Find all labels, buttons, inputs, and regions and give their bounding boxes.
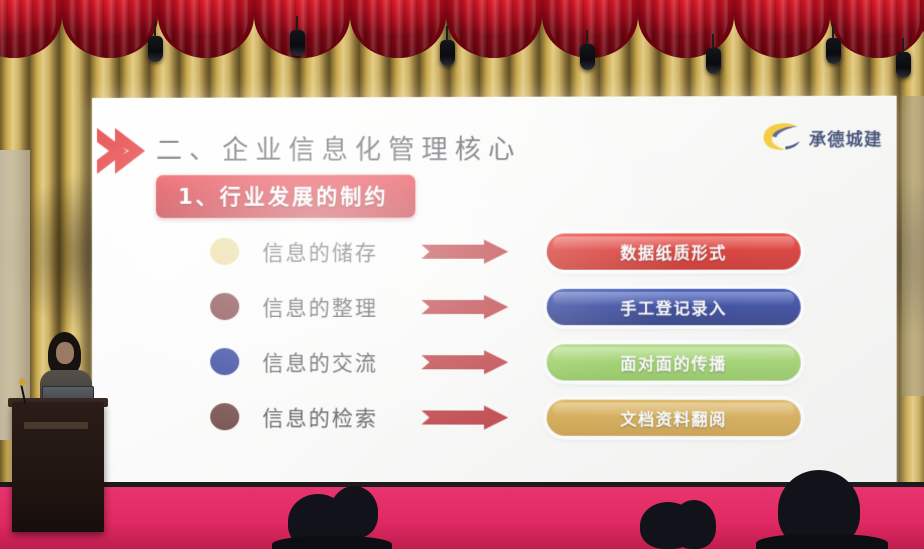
right-arrow-icon xyxy=(421,349,508,375)
podium-nameplate xyxy=(24,422,88,429)
valance-swag xyxy=(158,0,254,58)
brand-name: 承德城建 xyxy=(809,125,882,150)
row-label: 信息的整理 xyxy=(262,291,378,321)
row-label: 信息的储存 xyxy=(262,236,378,266)
outcome-pill: 手工登记录入 xyxy=(547,288,801,324)
spotlight-fixture xyxy=(706,48,721,74)
spotlight-fixture xyxy=(580,44,595,70)
valance-swag xyxy=(734,0,830,58)
bullet-dot xyxy=(210,293,239,320)
red-chevron-icon xyxy=(97,126,165,176)
right-arrow-icon xyxy=(421,238,508,264)
outcome-pill: 文档资料翻阅 xyxy=(547,399,801,436)
red-valance xyxy=(0,0,924,62)
presenter-face xyxy=(56,342,74,364)
audience-head xyxy=(330,486,378,538)
valance-swag xyxy=(830,0,924,58)
spotlight-fixture xyxy=(826,38,841,64)
valance-swag xyxy=(62,0,158,58)
audience-shoulders xyxy=(756,534,888,549)
slide-title: 二、企业信息化管理核心 xyxy=(156,129,521,167)
outcome-pill: 面对面的传播 xyxy=(547,344,801,380)
bullet-dot xyxy=(210,348,239,375)
spotlight-fixture xyxy=(440,40,455,66)
row-label: 信息的检索 xyxy=(262,402,378,432)
microphone-icon xyxy=(19,378,26,386)
audience-shoulders xyxy=(272,536,392,549)
valance-swag xyxy=(350,0,446,58)
brand-logo: 承德城建 xyxy=(761,122,882,153)
slide-row: 信息的储存 数据纸质形式 xyxy=(92,223,897,279)
right-arrow-icon xyxy=(421,293,508,319)
audience-head xyxy=(672,500,716,549)
spotlight-fixture xyxy=(896,52,911,78)
slide-row: 信息的检索 文档资料翻阅 xyxy=(92,389,897,445)
right-arrow-icon xyxy=(421,404,508,430)
valance-swag xyxy=(446,0,542,58)
spotlight-fixture xyxy=(148,36,163,62)
projected-slide: 二、企业信息化管理核心 1、行业发展的制约 承德城建 信息的储存 xyxy=(92,96,897,523)
right-wall-panel xyxy=(902,96,924,396)
slide-rows: 信息的储存 数据纸质形式 信息的整理 手工登记录入 xyxy=(92,223,897,445)
presenter-at-podium xyxy=(0,330,112,549)
slide-row: 信息的整理 手工登记录入 xyxy=(92,279,897,335)
spotlight-fixture xyxy=(290,30,305,56)
valance-swag xyxy=(0,0,62,58)
swoosh-icon xyxy=(761,122,802,152)
slide-row: 信息的交流 面对面的传播 xyxy=(92,334,897,390)
section-badge: 1、行业发展的制约 xyxy=(156,174,415,218)
conference-photo: 二、企业信息化管理核心 1、行业发展的制约 承德城建 信息的储存 xyxy=(0,0,924,549)
row-label: 信息的交流 xyxy=(262,347,378,377)
bullet-dot xyxy=(210,238,239,265)
bullet-dot xyxy=(210,403,239,430)
outcome-pill: 数据纸质形式 xyxy=(547,233,801,269)
